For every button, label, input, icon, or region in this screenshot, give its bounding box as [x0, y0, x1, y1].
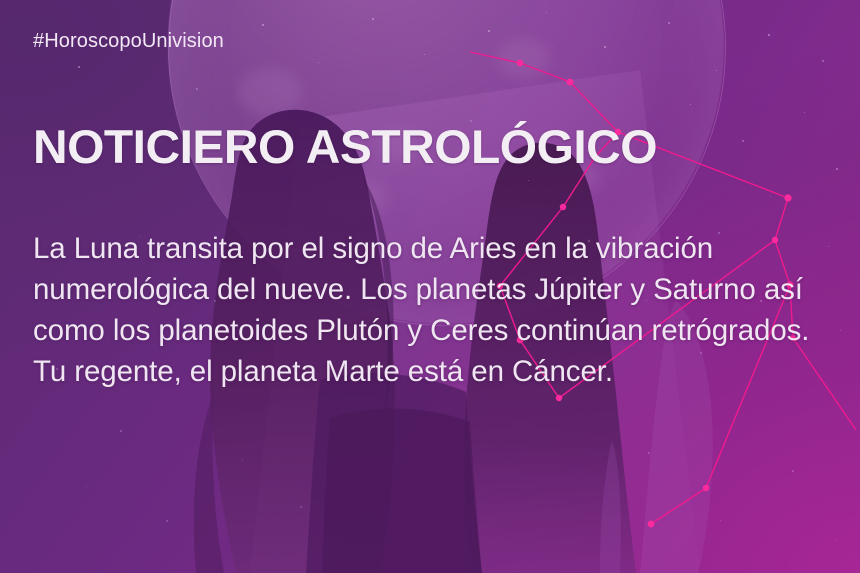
page-title: NOTICIERO ASTROLÓGICO: [33, 123, 657, 171]
horoscope-card: #HoroscopoUnivision NOTICIERO ASTROLÓGIC…: [0, 0, 860, 573]
content-layer: #HoroscopoUnivision NOTICIERO ASTROLÓGIC…: [0, 0, 860, 573]
hashtag-label: #HoroscopoUnivision: [33, 30, 224, 53]
horoscope-body-text: La Luna transita por el signo de Aries e…: [33, 228, 823, 392]
